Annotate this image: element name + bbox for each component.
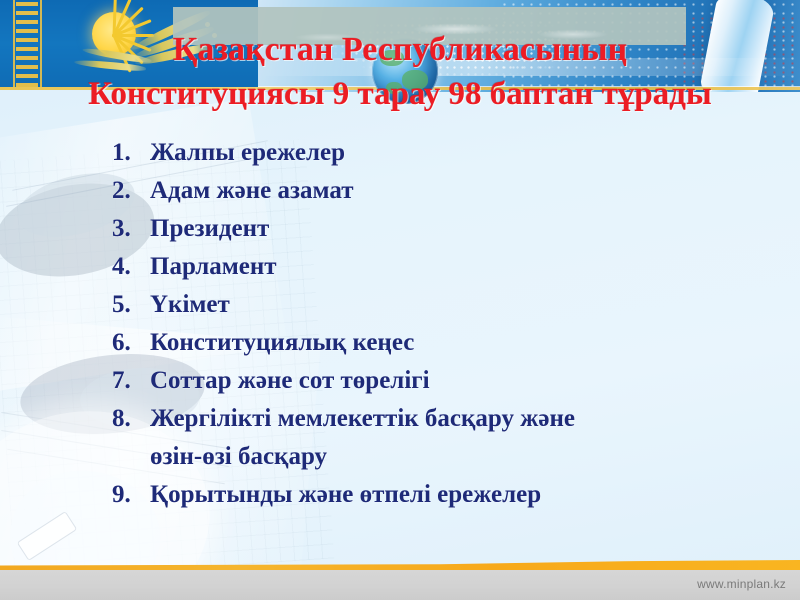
list-item: 3. Президент: [112, 210, 752, 248]
list-item-label: Адам және азамат: [150, 172, 752, 210]
list-item-number: 3.: [112, 210, 150, 248]
page-title: Қазақстан Республикасының Конституциясы …: [0, 28, 800, 116]
list-item-label: Жергілікті мемлекеттік басқару және өзін…: [150, 400, 752, 476]
list-item: 9. Қорытынды және өтпелі ережелер: [112, 476, 752, 514]
list-item-number: 2.: [112, 172, 150, 210]
slide-canvas: Қазақстан Республикасының Конституциясы …: [0, 0, 800, 600]
list-item-number: 6.: [112, 324, 150, 362]
list-item-number: 5.: [112, 286, 150, 324]
list-item-label: Жалпы ережелер: [150, 134, 752, 172]
footer-gold-swoosh: [0, 560, 800, 570]
title-line-1: Қазақстан Республикасының: [0, 28, 800, 72]
watermark-pen: [17, 511, 78, 561]
list-item-number: 8.: [112, 400, 150, 438]
list-item-number: 9.: [112, 476, 150, 514]
list-item: 4. Парламент: [112, 248, 752, 286]
list-item-label: Президент: [150, 210, 752, 248]
list-item-label: Соттар және сот төрелігі: [150, 362, 752, 400]
list-item-number: 7.: [112, 362, 150, 400]
list-item-number: 4.: [112, 248, 150, 286]
list-item-label: Конституциялық кеңес: [150, 324, 752, 362]
list-item-label: Парламент: [150, 248, 752, 286]
list-item: 7. Соттар және сот төрелігі: [112, 362, 752, 400]
list-item: 5. Үкімет: [112, 286, 752, 324]
list-item-label-line-2: өзін-өзі басқару: [150, 438, 752, 476]
list-item: 2. Адам және азамат: [112, 172, 752, 210]
title-line-2: Конституциясы 9 тарау 98 баптан тұрады: [0, 72, 800, 116]
list-item-number: 1.: [112, 134, 150, 172]
list-item-label: Үкімет: [150, 286, 752, 324]
list-item: 1. Жалпы ережелер: [112, 134, 752, 172]
footer-bar: www.minplan.kz: [0, 570, 800, 600]
list-item: 8. Жергілікті мемлекеттік басқару және ө…: [112, 400, 752, 476]
chapter-list: 1. Жалпы ережелер 2. Адам және азамат 3.…: [112, 134, 752, 514]
list-item-label-line-1: Жергілікті мемлекеттік басқару және: [150, 405, 575, 432]
list-item: 6. Конституциялық кеңес: [112, 324, 752, 362]
list-item-label: Қорытынды және өтпелі ережелер: [150, 476, 752, 514]
footer-website-url: www.minplan.kz: [697, 577, 786, 591]
